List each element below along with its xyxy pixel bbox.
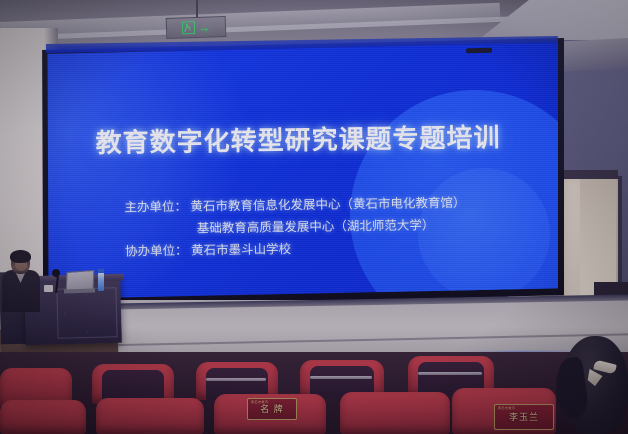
seat-rail: [206, 378, 266, 381]
auditorium-photo: → 教育数字化转型研究课题专题培训 主办单位： 黄石市教育信息化发展中心（黄石市…: [0, 0, 628, 434]
speaker-hair: [10, 250, 31, 263]
seat-nameplate: 黄石市教育 李玉兰: [494, 404, 554, 430]
nameplate-subtitle: 黄石市教育: [498, 406, 516, 410]
seat: [96, 398, 204, 434]
nameplate-name: 李玉兰: [509, 413, 539, 422]
exit-running-person-icon: [182, 21, 195, 34]
slide-line-coorganizer: 协办单位： 黄石市墨斗山学校: [125, 235, 545, 263]
seat-rail: [418, 372, 482, 375]
seat: [0, 400, 86, 434]
seat-rail: [310, 376, 372, 379]
water-bottle: [98, 272, 104, 291]
slide-title: 教育数字化转型研究课题专题培训: [95, 117, 525, 160]
slide-body: 主办单位： 黄石市教育信息化发展中心（黄石市电化教育馆） 基础教育高质量发展中心…: [124, 191, 545, 263]
door-header: [560, 170, 618, 179]
screen-speaker-slot: [466, 48, 492, 53]
exit-sign-cable: [196, 0, 198, 18]
led-screen: 教育数字化转型研究课题专题培训 主办单位： 黄石市教育信息化发展中心（黄石市电化…: [46, 42, 558, 300]
exit-arrow-icon: →: [198, 21, 210, 33]
nameplate-subtitle: 黄石市教育: [251, 400, 269, 404]
seat-nameplate: 黄石市教育 名 牌: [247, 398, 297, 420]
slide-content: 教育数字化转型研究课题专题培训 主办单位： 黄石市教育信息化发展中心（黄石市电化…: [46, 42, 558, 300]
seat: [340, 392, 450, 434]
emergency-exit-sign: →: [166, 16, 227, 39]
podium-paper: [44, 285, 53, 292]
nameplate-name: 名 牌: [260, 405, 284, 414]
microphone-head: [52, 269, 60, 277]
water-bottle-cap: [98, 269, 104, 273]
